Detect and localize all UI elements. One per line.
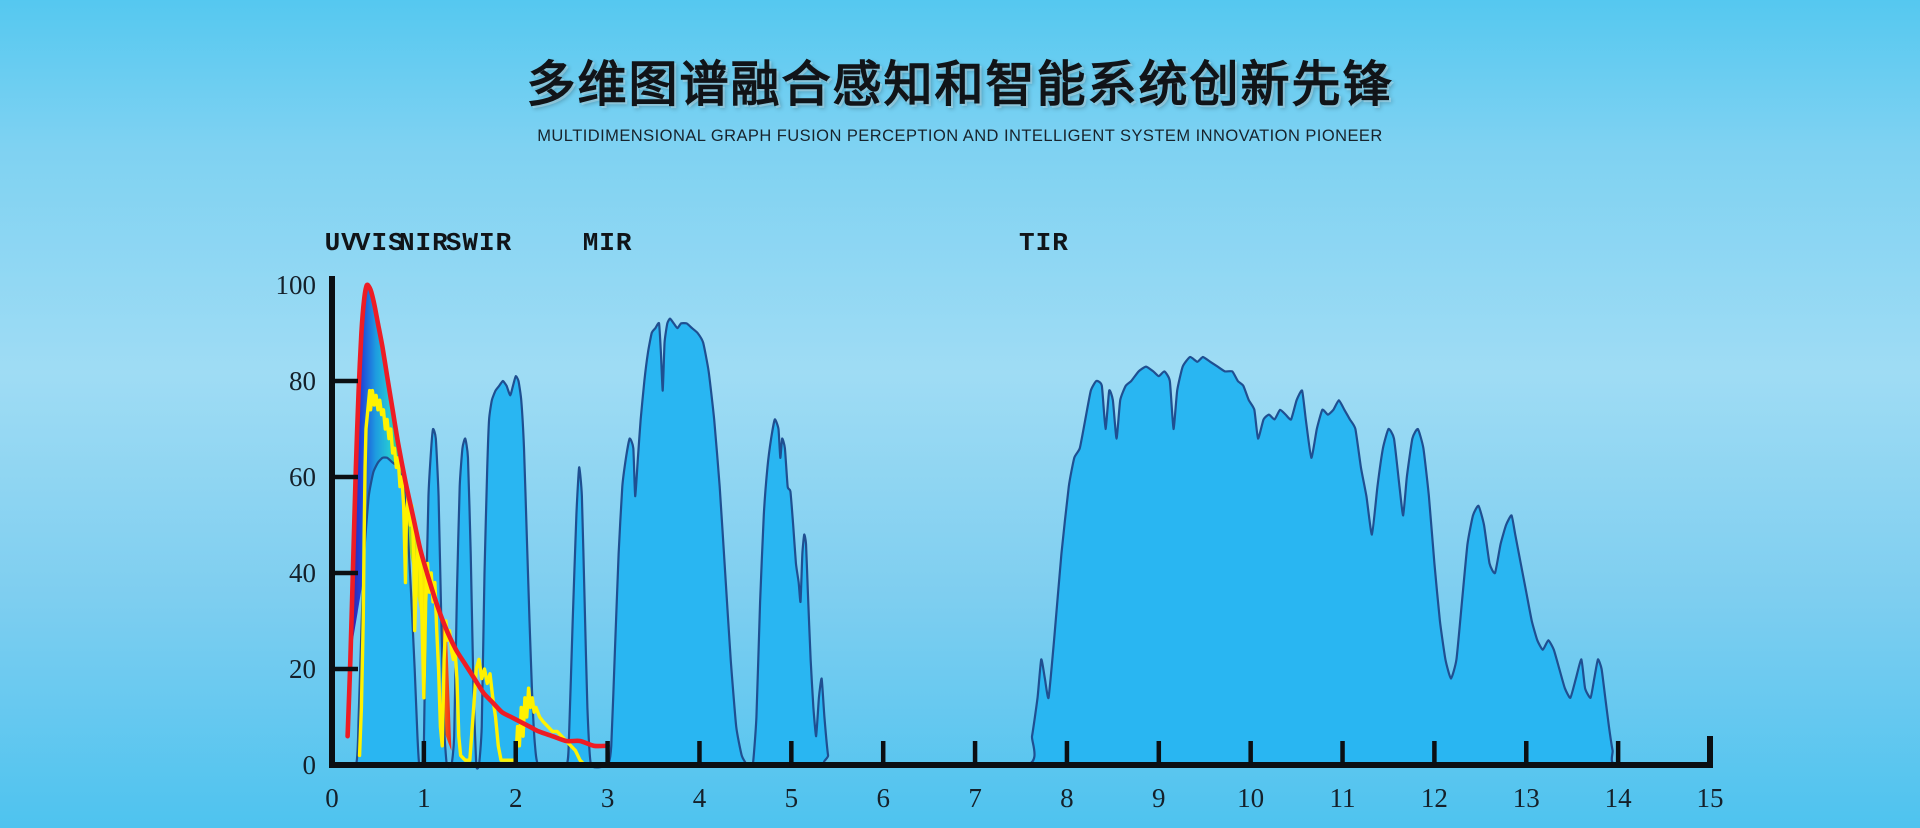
x-tick-label: 6 <box>876 783 890 813</box>
chart-svg: 020406080100 0123456789101112131415 UVVI… <box>0 0 1920 828</box>
x-tick-label: 2 <box>509 783 523 813</box>
band-label-nir: NIR <box>399 228 449 258</box>
y-tick-label: 100 <box>276 270 317 300</box>
x-tick-label: 10 <box>1237 783 1264 813</box>
band-label-mir: MIR <box>583 228 633 258</box>
y-tick-label: 20 <box>289 654 316 684</box>
x-tick-label: 8 <box>1060 783 1074 813</box>
band-label-uv: UV <box>325 228 358 258</box>
y-tick-label: 80 <box>289 366 316 396</box>
x-tick-label: 15 <box>1697 783 1724 813</box>
x-tick-label: 11 <box>1330 783 1356 813</box>
x-tick-label: 7 <box>968 783 982 813</box>
x-tick-label: 1 <box>417 783 431 813</box>
atmospheric-transmission-area <box>332 319 1710 769</box>
spectral-chart: 020406080100 0123456789101112131415 UVVI… <box>0 0 1920 828</box>
y-tick-label: 60 <box>289 462 316 492</box>
x-tick-label: 5 <box>785 783 799 813</box>
band-label-swir: SWIR <box>446 228 512 258</box>
y-tick-label: 0 <box>303 750 317 780</box>
x-tick-label: 13 <box>1513 783 1540 813</box>
y-tick-label: 40 <box>289 558 316 588</box>
poster-root: 多维图谱融合感知和智能系统创新先锋 MULTIDIMENSIONAL GRAPH… <box>0 0 1920 828</box>
band-labels: UVVISNIRSWIRMIRTIR <box>325 228 1069 258</box>
x-tick-label: 9 <box>1152 783 1166 813</box>
x-tick-label: 12 <box>1421 783 1448 813</box>
x-tick-label: 3 <box>601 783 615 813</box>
x-tick-label: 0 <box>325 783 339 813</box>
band-label-vis: VIS <box>355 228 405 258</box>
band-label-tir: TIR <box>1019 228 1069 258</box>
y-axis-ticks: 020406080100 <box>276 270 359 780</box>
x-tick-label: 4 <box>693 783 707 813</box>
x-tick-label: 14 <box>1605 783 1633 813</box>
